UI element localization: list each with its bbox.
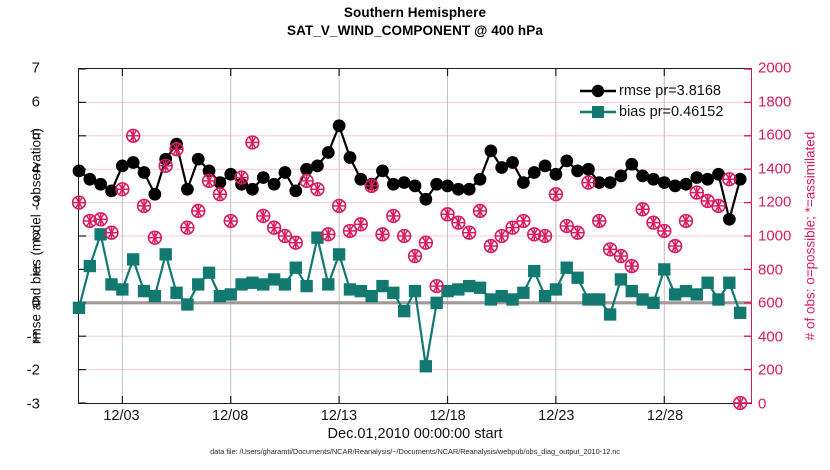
obs-assimilated-marker xyxy=(159,159,172,172)
y-tick-label-left: 1 xyxy=(0,261,40,278)
obs-assimilated-marker xyxy=(333,200,346,213)
bias-point xyxy=(528,265,540,277)
bias-point xyxy=(636,293,648,305)
y-tick-label-left: 5 xyxy=(0,127,40,144)
rmse-point xyxy=(701,173,714,186)
obs-assimilated-marker xyxy=(387,210,400,223)
bias-point xyxy=(550,283,562,295)
y-tick-label-left: -2 xyxy=(0,362,40,379)
bias-point xyxy=(669,288,681,300)
x-tick-label: 12/03 xyxy=(81,408,161,424)
bias-point xyxy=(333,248,345,260)
bias-point xyxy=(506,293,518,305)
obs-assimilated-marker xyxy=(517,215,530,228)
rmse-point xyxy=(539,159,552,172)
chart-subtitle: SAT_V_WIND_COMPONENT @ 400 hPa xyxy=(0,22,830,40)
rmse-point xyxy=(138,166,151,179)
obs-assimilated-marker xyxy=(647,216,660,229)
bias-point xyxy=(181,298,193,310)
obs-assimilated-marker xyxy=(539,230,552,243)
rmse-point xyxy=(311,159,324,172)
bias-point xyxy=(474,282,486,294)
bias-point xyxy=(691,288,703,300)
rmse-point xyxy=(257,171,270,184)
bias-point xyxy=(712,293,724,305)
obs-assimilated-marker xyxy=(615,250,628,263)
rmse-point xyxy=(289,185,302,198)
y-tick-label-right: 600 xyxy=(758,295,806,312)
obs-assimilated-marker xyxy=(235,171,248,184)
y-tick-label-right: 1400 xyxy=(758,160,806,177)
obs-assimilated-marker xyxy=(289,236,302,249)
rmse-point xyxy=(636,170,649,183)
rmse-point xyxy=(625,158,638,171)
bias-point xyxy=(734,307,746,319)
bias-point xyxy=(430,297,442,309)
obs-assimilated-marker xyxy=(322,228,335,241)
obs-assimilated-marker xyxy=(636,203,649,216)
obs-assimilated-marker xyxy=(669,240,682,253)
rmse-point xyxy=(246,183,259,196)
obs-assimilated-marker xyxy=(398,230,411,243)
bias-point xyxy=(160,248,172,260)
bias-point xyxy=(192,278,204,290)
obs-assimilated-marker xyxy=(376,228,389,241)
obs-assimilated-marker xyxy=(680,215,693,228)
obs-assimilated-marker xyxy=(593,215,606,228)
obs-assimilated-marker xyxy=(268,221,281,234)
y-tick-label-right: 1800 xyxy=(758,93,806,110)
y-tick-label-left: 2 xyxy=(0,228,40,245)
rmse-point xyxy=(94,178,107,191)
bias-point xyxy=(571,272,583,284)
obs-assimilated-marker xyxy=(712,200,725,213)
bias-point xyxy=(387,287,399,299)
legend-marker-square-icon xyxy=(578,103,618,121)
rmse-point xyxy=(387,178,400,191)
x-tick-label: 12/13 xyxy=(299,408,379,424)
rmse-point xyxy=(398,176,411,189)
rmse-point xyxy=(506,156,519,169)
bias-point xyxy=(344,283,356,295)
bias-point xyxy=(300,280,312,292)
bias-point xyxy=(723,277,735,289)
y-tick-label-right: 1200 xyxy=(758,194,806,211)
rmse-point xyxy=(441,180,454,193)
y-tick-label-right: 0 xyxy=(758,396,806,413)
bias-point xyxy=(170,287,182,299)
obs-assimilated-marker xyxy=(441,208,454,221)
obs-assimilated-marker xyxy=(116,183,129,196)
obs-assimilated-marker xyxy=(419,236,432,249)
figure-canvas: Southern Hemisphere SAT_V_WIND_COMPONENT… xyxy=(0,0,830,470)
x-tick-label: 12/28 xyxy=(625,408,705,424)
chart-title-block: Southern Hemisphere SAT_V_WIND_COMPONENT… xyxy=(0,4,830,40)
rmse-point xyxy=(279,166,292,179)
x-tick-label: 12/18 xyxy=(408,408,488,424)
bias-point xyxy=(322,278,334,290)
obs-assimilated-marker xyxy=(452,216,465,229)
bias-point xyxy=(593,293,605,305)
data-file-footer: data file: /Users/gharamti/Documents/NCA… xyxy=(0,447,830,456)
rmse-point xyxy=(615,170,628,183)
rmse-point xyxy=(376,165,389,178)
y-tick-label-right: 200 xyxy=(758,362,806,379)
legend-item-rmse[interactable]: rmse pr=3.8168 xyxy=(578,80,746,101)
rmse-point xyxy=(484,144,497,157)
obs-assimilated-marker xyxy=(73,196,86,209)
obs-assimilated-marker xyxy=(214,188,227,201)
bias-point xyxy=(463,280,475,292)
bias-point xyxy=(496,290,508,302)
bias-point xyxy=(701,277,713,289)
chart-legend: rmse pr=3.8168 bias pr=0.46152 xyxy=(578,78,746,124)
obs-assimilated-marker xyxy=(463,226,476,239)
bias-point xyxy=(355,285,367,297)
bias-point xyxy=(626,285,638,297)
bias-point xyxy=(517,287,529,299)
obs-assimilated-marker xyxy=(203,175,216,188)
obs-assimilated-marker xyxy=(246,136,259,149)
y-tick-label-left: 6 xyxy=(0,93,40,110)
bias-point xyxy=(409,285,421,297)
obs-assimilated-marker xyxy=(658,225,671,238)
obs-assimilated-marker xyxy=(365,180,378,193)
obs-assimilated-marker xyxy=(690,186,703,199)
bias-point xyxy=(647,297,659,309)
bias-point xyxy=(658,263,670,275)
y-tick-label-right: 1000 xyxy=(758,228,806,245)
rmse-point xyxy=(181,183,194,196)
y-tick-label-left: 0 xyxy=(0,295,40,312)
bias-point xyxy=(149,290,161,302)
obs-assimilated-marker xyxy=(300,175,313,188)
bias-point xyxy=(138,285,150,297)
y-tick-label-right: 400 xyxy=(758,328,806,345)
y-tick-label-left: 4 xyxy=(0,160,40,177)
obs-assimilated-marker xyxy=(257,210,270,223)
bias-point xyxy=(127,253,139,265)
y-tick-label-right: 800 xyxy=(758,261,806,278)
legend-label-bias: bias pr=0.46152 xyxy=(619,104,723,120)
rmse-point xyxy=(647,173,660,186)
obs-assimilated-marker xyxy=(181,221,194,234)
rmse-point xyxy=(571,165,584,178)
rmse-point xyxy=(474,173,487,186)
obs-assimilated-marker xyxy=(582,176,595,189)
obs-assimilated-marker xyxy=(409,250,422,263)
obs-assimilated-marker xyxy=(354,218,367,231)
bias-point xyxy=(376,280,388,292)
rmse-point xyxy=(582,163,595,176)
y-tick-label-right: 2000 xyxy=(758,60,806,77)
bias-point xyxy=(84,260,96,272)
rmse-point xyxy=(723,213,736,226)
bias-point xyxy=(116,283,128,295)
obs-assimilated-marker xyxy=(192,205,205,218)
chart-title: Southern Hemisphere xyxy=(0,4,830,22)
bias-point xyxy=(214,290,226,302)
bias-point xyxy=(279,278,291,290)
rmse-point xyxy=(83,173,96,186)
rmse-point xyxy=(550,168,563,181)
bias-point xyxy=(604,308,616,320)
bias-point xyxy=(365,290,377,302)
obs-assimilated-marker xyxy=(311,183,324,196)
rmse-point xyxy=(528,166,541,179)
bias-point xyxy=(539,290,551,302)
bias-point xyxy=(235,278,247,290)
obs-assimilated-marker xyxy=(105,226,118,239)
rmse-point xyxy=(322,146,335,159)
legend-marker-circle-icon xyxy=(578,82,618,100)
obs-assimilated-marker xyxy=(571,226,584,239)
rmse-point xyxy=(495,161,508,174)
x-axis-label: Dec.01,2010 00:00:00 start xyxy=(0,426,830,442)
y-tick-label-right: 1600 xyxy=(758,127,806,144)
rmse-point xyxy=(148,188,161,201)
bias-point xyxy=(290,262,302,274)
x-tick-label: 12/23 xyxy=(516,408,596,424)
legend-item-bias[interactable]: bias pr=0.46152 xyxy=(578,101,746,122)
bias-point xyxy=(420,360,432,372)
bias-point xyxy=(246,277,258,289)
obs-assimilated-marker xyxy=(495,230,508,243)
obs-assimilated-marker xyxy=(550,188,563,201)
obs-assimilated-marker xyxy=(127,129,140,142)
y-tick-label-left: 7 xyxy=(0,60,40,77)
rmse-point xyxy=(430,178,443,191)
obs-assimilated-marker xyxy=(474,205,487,218)
rmse-point xyxy=(560,154,573,167)
bias-point xyxy=(398,305,410,317)
rmse-point xyxy=(300,163,313,176)
bias-point xyxy=(257,278,269,290)
bias-point xyxy=(203,267,215,279)
y-tick-label-left: -1 xyxy=(0,328,40,345)
rmse-point xyxy=(658,176,671,189)
rmse-point xyxy=(409,180,422,193)
y-tick-label-left: -3 xyxy=(0,396,40,413)
rmse-point xyxy=(680,178,693,191)
obs-assimilated-marker xyxy=(484,240,497,253)
obs-assimilated-marker xyxy=(723,173,736,186)
x-tick-label: 12/08 xyxy=(190,408,270,424)
rmse-point xyxy=(517,176,530,189)
series-filled-square xyxy=(73,228,747,372)
rmse-point xyxy=(116,159,129,172)
y-tick-label-left: 3 xyxy=(0,194,40,211)
rmse-point xyxy=(268,178,281,191)
bias-point xyxy=(268,273,280,285)
bias-point xyxy=(73,302,85,314)
rmse-point xyxy=(669,180,682,193)
obs-assimilated-marker xyxy=(625,260,638,273)
rmse-point xyxy=(127,156,140,169)
rmse-point xyxy=(73,165,86,178)
rmse-point xyxy=(690,171,703,184)
rmse-point xyxy=(344,151,357,164)
bias-point xyxy=(485,293,497,305)
rmse-point xyxy=(333,119,346,132)
bias-point xyxy=(615,273,627,285)
bias-point xyxy=(680,285,692,297)
obs-assimilated-marker xyxy=(138,200,151,213)
obs-assimilated-marker xyxy=(734,397,747,410)
obs-assimilated-marker xyxy=(94,213,107,226)
bias-point xyxy=(582,293,594,305)
legend-label-rmse: rmse pr=3.8168 xyxy=(619,83,721,99)
bias-point xyxy=(452,283,464,295)
obs-assimilated-marker xyxy=(224,215,237,228)
obs-assimilated-marker xyxy=(170,143,183,156)
obs-assimilated-marker xyxy=(148,231,161,244)
rmse-point xyxy=(192,153,205,166)
bias-point xyxy=(561,262,573,274)
bias-point xyxy=(225,288,237,300)
bias-point xyxy=(105,278,117,290)
rmse-point xyxy=(604,176,617,189)
obs-assimilated-marker xyxy=(430,280,443,293)
rmse-point xyxy=(463,183,476,196)
rmse-point xyxy=(419,193,432,206)
